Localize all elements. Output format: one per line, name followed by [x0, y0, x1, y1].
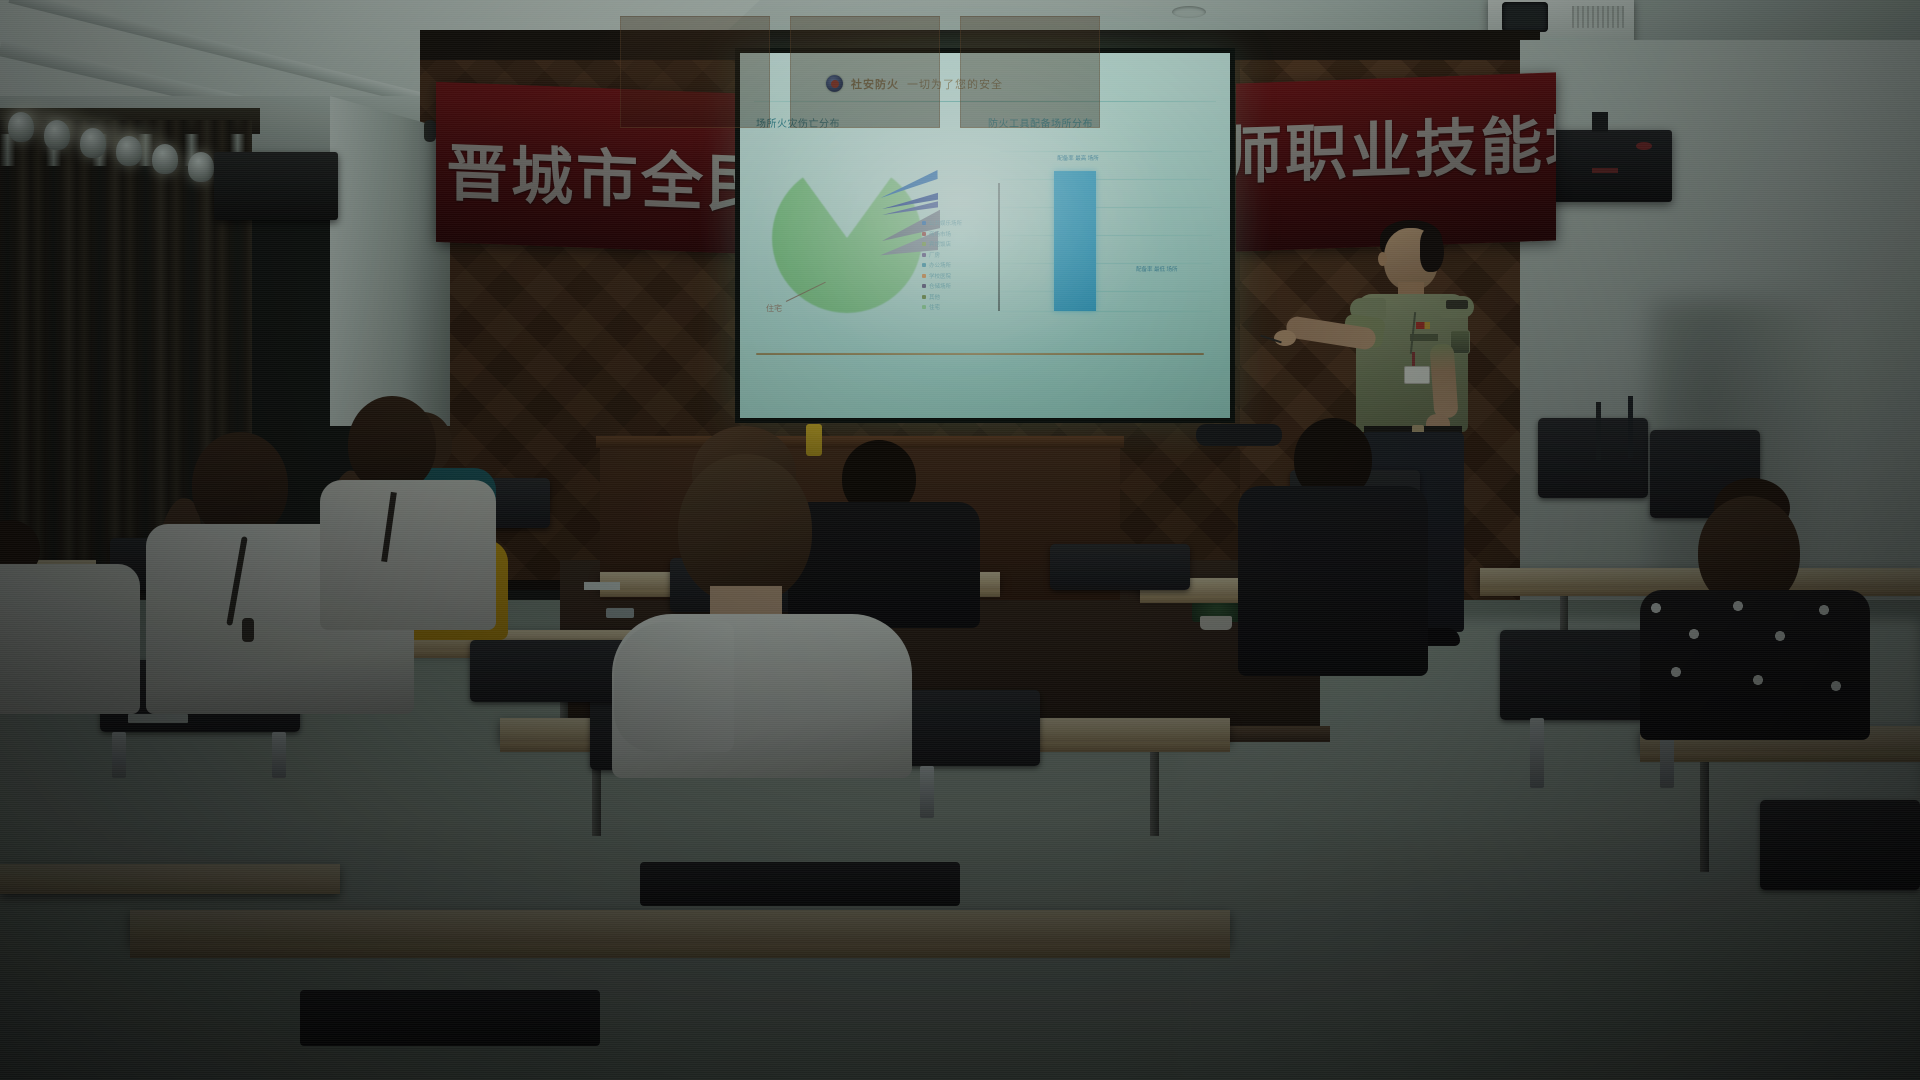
legend-item: 商场市场 [922, 230, 962, 238]
paper-on-desk [584, 582, 620, 590]
pie-callout-label: 住宅 [766, 303, 782, 314]
pie-main-slice [772, 163, 922, 313]
attendee-torso [1238, 486, 1428, 676]
legend-item: 仓储场所 [922, 282, 962, 290]
classroom-scene: 晋城市全民技能提升 师职业技能培训班 社安防火 一切为了您的安全 场所火灾伤亡分… [0, 0, 1920, 1080]
legend-label: 商场市场 [929, 230, 951, 238]
gridline [1000, 263, 1212, 264]
attendee [600, 418, 930, 748]
chair-back[interactable] [1760, 800, 1920, 890]
gridline [1000, 179, 1212, 180]
attendee-head [348, 396, 436, 492]
legend-item: 公共娱乐场所 [922, 219, 962, 227]
bar-y-axis [998, 183, 1000, 311]
chair-seat[interactable] [640, 862, 960, 906]
presenter-arm-right [1429, 343, 1458, 418]
ceiling-light-recess [1172, 6, 1206, 18]
legend-label: 公共娱乐场所 [929, 219, 962, 227]
phone-on-desk [606, 608, 634, 618]
legend-label: 住宅 [929, 303, 940, 311]
attendee-strap-toggle [242, 618, 254, 642]
track-light [80, 128, 106, 158]
pie-chart: 住宅 公共娱乐场所 商场市场 宾馆饭店 厂房 办公场所 学校医院 仓储场所 其他… [762, 141, 972, 356]
track-light [44, 120, 70, 150]
wall-speaker-right [1544, 130, 1672, 202]
legend-swatch [922, 221, 926, 225]
bar-gridlines [1000, 143, 1212, 311]
attendee [0, 520, 150, 720]
legend-item: 办公场所 [922, 261, 962, 269]
slide-bottom-rule [756, 353, 1204, 355]
bar-note-label: 配备率 最低 场所 [1136, 265, 1178, 273]
security-camera-icon [424, 120, 436, 142]
gridline [1000, 151, 1212, 152]
chair-seat[interactable] [300, 990, 600, 1046]
legend-item: 住宅 [922, 303, 962, 311]
gridline [1000, 291, 1212, 292]
desk-leg [1700, 762, 1709, 872]
legend-swatch [922, 305, 926, 309]
speaker-badge-icon [1636, 142, 1652, 150]
wall-speaker-left [214, 152, 338, 220]
legend-item: 学校医院 [922, 272, 962, 280]
podium-panel [620, 16, 770, 128]
track-light [8, 112, 34, 142]
legend-label: 厂房 [929, 251, 940, 259]
bar-top-label: 配备率 最高 场所 [1042, 155, 1114, 163]
wall-pillar [330, 96, 450, 426]
track-light [152, 144, 178, 174]
legend-swatch [922, 242, 926, 246]
gridline [1000, 207, 1212, 208]
projector-vent [1572, 6, 1624, 28]
attendee-torso [320, 480, 496, 630]
legend-swatch [922, 253, 926, 257]
desk [0, 864, 340, 894]
podium-panel [960, 16, 1100, 128]
legend-item: 厂房 [922, 251, 962, 259]
attendee-head [678, 454, 812, 604]
desk-edge [130, 944, 1230, 958]
attendee [320, 396, 500, 626]
projector-lens-icon [1502, 2, 1548, 32]
attendee-head [192, 432, 288, 538]
gridline [1000, 311, 1212, 312]
microphone-stand [1628, 396, 1633, 458]
chair-frame [272, 732, 286, 778]
plant-pot [1200, 616, 1232, 630]
chair-frame [1530, 718, 1544, 788]
presenter-epaulette [1446, 300, 1468, 309]
speaker-mount-right [1592, 112, 1608, 132]
chair-frame [920, 766, 934, 818]
attendee-arm [614, 622, 734, 752]
presenter-name-plate [1410, 334, 1438, 341]
attendee-torso [0, 564, 140, 714]
legend-swatch [922, 263, 926, 267]
legend-swatch [922, 232, 926, 236]
presenter-id-badge [1404, 366, 1430, 384]
bar-chart: 配备率 最高 场所 配备率 最低 场所 [990, 143, 1212, 343]
legend-label: 其他 [929, 293, 940, 301]
legend-label: 仓储场所 [929, 282, 951, 290]
attendee-torso [1640, 590, 1870, 740]
desk-edge [1640, 752, 1920, 762]
track-light [116, 136, 142, 166]
track-light [188, 152, 214, 182]
bar-column [1054, 171, 1096, 311]
notebook-on-desk [128, 714, 188, 723]
podium-panel [790, 16, 940, 128]
presenter-ear [1378, 252, 1387, 266]
gridline [1000, 235, 1212, 236]
presenter-hair-side [1420, 228, 1444, 272]
chair-frame [112, 732, 126, 778]
chair-back[interactable] [1050, 544, 1190, 590]
microphone-stand [1596, 402, 1601, 460]
legend-label: 学校医院 [929, 272, 951, 280]
legend-swatch [922, 274, 926, 278]
speaker-logo [1592, 168, 1618, 173]
presenter-hand-left [1274, 330, 1296, 346]
attendee [1640, 478, 1870, 728]
legend-swatch [922, 295, 926, 299]
desk-leg [1150, 752, 1159, 836]
legend-label: 办公场所 [929, 261, 951, 269]
pie-legend: 公共娱乐场所 商场市场 宾馆饭店 厂房 办公场所 学校医院 仓储场所 其他 住宅 [922, 219, 962, 311]
presenter-flag-pin-icon [1416, 322, 1430, 329]
attendee [1238, 418, 1428, 678]
legend-label: 宾馆饭店 [929, 240, 951, 248]
legend-swatch [922, 284, 926, 288]
legend-item: 其他 [922, 293, 962, 301]
legend-item: 宾馆饭店 [922, 240, 962, 248]
desk [130, 910, 1230, 944]
